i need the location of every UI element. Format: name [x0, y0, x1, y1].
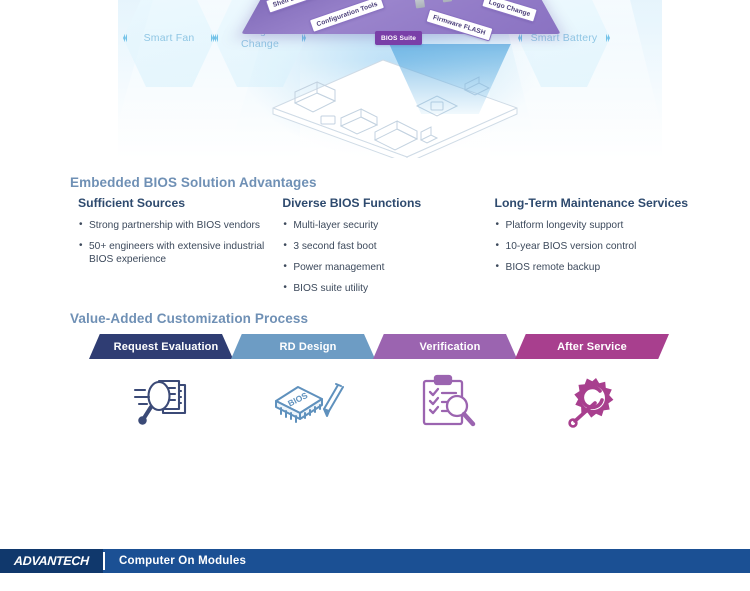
list-item: 50+ engineers with extensive industrial …: [78, 240, 282, 266]
advantech-logo: ADVANTECH: [0, 549, 103, 573]
column-title: Long-Term Maintenance Services: [495, 196, 690, 210]
process-step-after-service[interactable]: After Service: [506, 334, 677, 442]
list-item: 3 second fast boot: [282, 240, 494, 253]
advantech-logo-text: ADVANTECH: [14, 554, 90, 568]
list-item: 10-year BIOS version control: [495, 240, 690, 253]
advantage-column-diverse-bios-functions: Diverse BIOS Functions Multi-layer secur…: [282, 196, 494, 303]
hero-tab-bios-suite[interactable]: BIOS Suite: [375, 31, 422, 45]
list-item: BIOS suite utility: [282, 282, 494, 295]
list-item: Power management: [282, 261, 494, 274]
process-step-label: RD Design: [280, 341, 337, 353]
list-item: Multi-layer security: [282, 219, 494, 232]
process-step-label: Request Evaluation: [114, 341, 219, 353]
column-title: Sufficient Sources: [78, 196, 282, 210]
column-bullet-list: Multi-layer security 3 second fast boot …: [282, 219, 494, 295]
process-chevrons: Request Evaluation RD Design: [80, 334, 680, 442]
list-item: Platform longevity support: [495, 219, 690, 232]
column-bullet-list: Platform longevity support 10-year BIOS …: [495, 219, 690, 274]
gear-wrench-icon: [506, 368, 677, 436]
list-item: BIOS remote backup: [495, 261, 690, 274]
process-heading: Value-Added Customization Process: [70, 311, 308, 326]
chevron-band: After Service: [515, 334, 669, 359]
hero-banner: Smart Fan Logo Change Smart Battery Shel…: [0, 0, 750, 158]
list-item: Strong partnership with BIOS vendors: [78, 219, 282, 232]
column-title: Diverse BIOS Functions: [282, 196, 494, 210]
hero-tab-label: BIOS Suite: [381, 35, 416, 42]
advantages-columns: Sufficient Sources Strong partnership wi…: [70, 196, 690, 303]
advantages-heading: Embedded BIOS Solution Advantages: [70, 175, 317, 190]
process-step-label: Verification: [419, 341, 480, 353]
column-bullet-list: Strong partnership with BIOS vendors 50+…: [78, 219, 282, 266]
hex-label: Smart Fan: [144, 32, 195, 45]
advantage-column-long-term-maintenance: Long-Term Maintenance Services Platform …: [495, 196, 690, 303]
chevron-band: Request Evaluation: [89, 334, 243, 359]
chevron-band: RD Design: [231, 334, 385, 359]
process-step-label: After Service: [557, 341, 627, 353]
chip-pin: [414, 0, 425, 9]
chevron-band: Verification: [373, 334, 527, 359]
footer-category-label: Computer On Modules: [105, 549, 246, 573]
footer-bar: ADVANTECH Computer On Modules: [0, 549, 750, 573]
advantage-column-sufficient-sources: Sufficient Sources Strong partnership wi…: [70, 196, 282, 303]
